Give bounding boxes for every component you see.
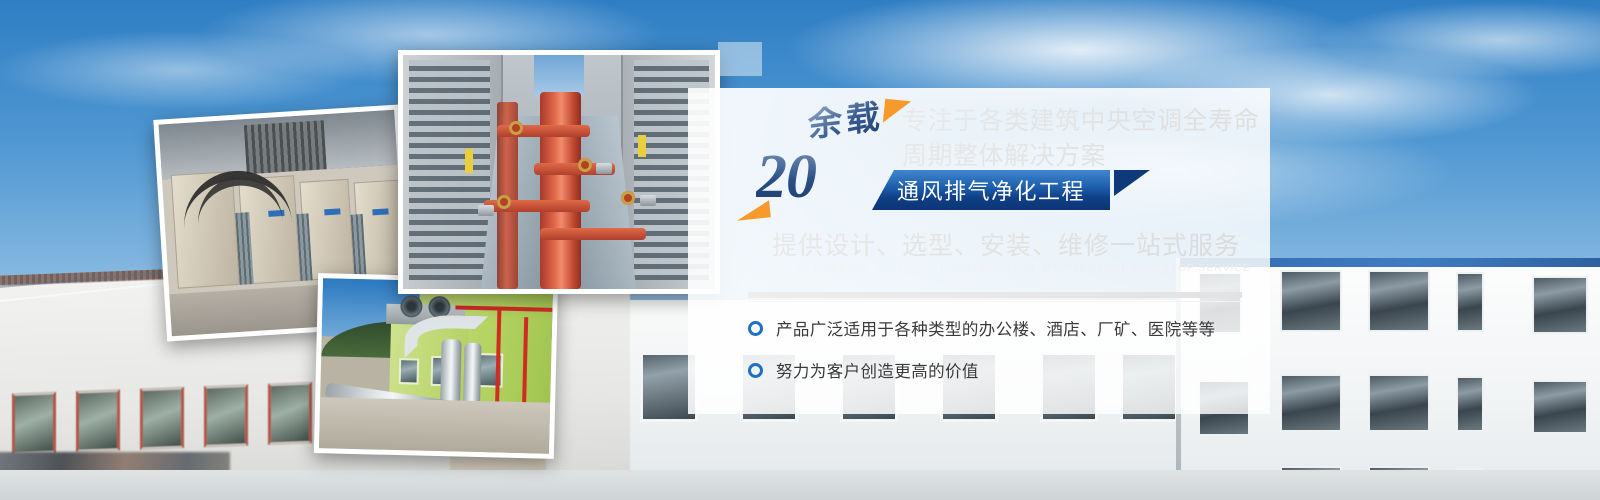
arrow-down-left-icon	[735, 200, 771, 220]
years-suffix: 余载	[808, 99, 885, 144]
tag-banner-label: 通风排气净化工程	[897, 174, 1085, 206]
bullet-text: 努力为客户创造更高的价值	[776, 358, 979, 382]
hvac-promo-banner: 余载 20 专注于各类建筑中央空调全寿命周期整体解决方案 通风排气净化工程 提供…	[0, 0, 1600, 500]
bullet-list: 产品广泛适用于各种类型的办公楼、酒店、厂矿、医院等等 努力为客户创造更高的价值	[748, 316, 1248, 400]
ground-strip	[0, 470, 1600, 500]
list-item: 努力为客户创造更高的价值	[748, 358, 1248, 382]
tag-banner-tail	[1114, 170, 1150, 196]
circle-bullet-icon	[748, 363, 763, 378]
circle-bullet-icon	[748, 321, 763, 336]
photo-chiller-piping	[398, 50, 720, 294]
tag-banner: 通风排气净化工程	[872, 170, 1110, 210]
list-item: 产品广泛适用于各种类型的办公楼、酒店、厂矿、医院等等	[748, 316, 1248, 340]
panel-accent-square	[718, 42, 762, 76]
photo-rooftop-ductwork	[314, 273, 558, 459]
arrow-up-right-icon	[883, 99, 911, 126]
bullet-text: 产品广泛适用于各种类型的办公楼、酒店、厂矿、医院等等	[776, 316, 1215, 340]
years-number: 20	[756, 146, 816, 208]
